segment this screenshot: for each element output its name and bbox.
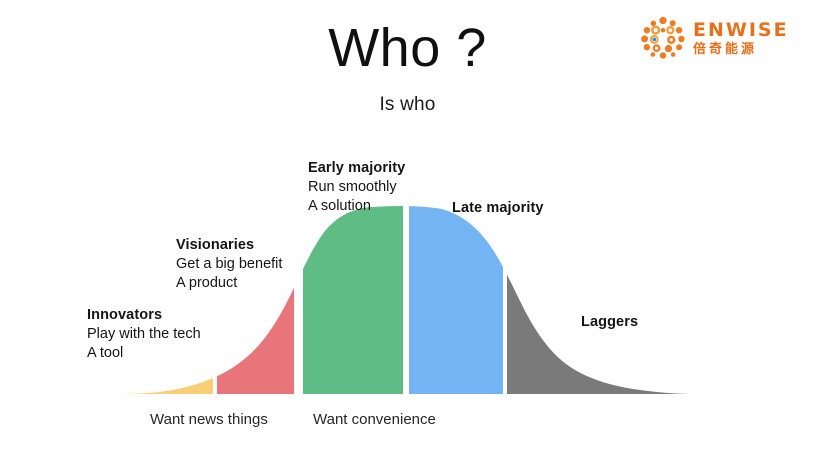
slide-canvas: ENWISE 倍奇能源 Who ? Is who [0, 0, 815, 457]
annotation-early-majority-line1: Run smoothly [308, 178, 405, 197]
annotation-laggers: Laggers [581, 313, 638, 332]
adoption-curve-chart [0, 0, 815, 457]
axis-caption-right: Want convenience [313, 411, 436, 428]
curve-segments [112, 206, 695, 394]
annotation-early-majority-line2: A solution [308, 197, 405, 216]
annotation-innovators-line1: Play with the tech [87, 325, 201, 344]
annotation-late-majority: Late majority [452, 199, 544, 218]
annotation-visionaries-line2: A product [176, 274, 282, 293]
axis-caption-left: Want news things [150, 411, 268, 428]
annotation-visionaries-title: Visionaries [176, 236, 282, 255]
annotation-laggers-title: Laggers [581, 313, 638, 332]
annotation-early-majority: Early majority Run smoothly A solution [308, 159, 405, 216]
annotation-innovators-title: Innovators [87, 306, 201, 325]
annotation-early-majority-title: Early majority [308, 159, 405, 178]
annotation-innovators: Innovators Play with the tech A tool [87, 306, 201, 363]
curve-segment-late-majority [112, 206, 695, 394]
annotation-visionaries: Visionaries Get a big benefit A product [176, 236, 282, 293]
curve-segment-visionaries [112, 206, 695, 394]
curve-svg [0, 0, 815, 457]
curve-segment-early-majority [112, 206, 695, 394]
annotation-late-majority-title: Late majority [452, 199, 544, 218]
curve-segment-innovators [112, 206, 695, 394]
annotation-visionaries-line1: Get a big benefit [176, 255, 282, 274]
annotation-innovators-line2: A tool [87, 344, 201, 363]
curve-segment-laggers [112, 206, 695, 394]
